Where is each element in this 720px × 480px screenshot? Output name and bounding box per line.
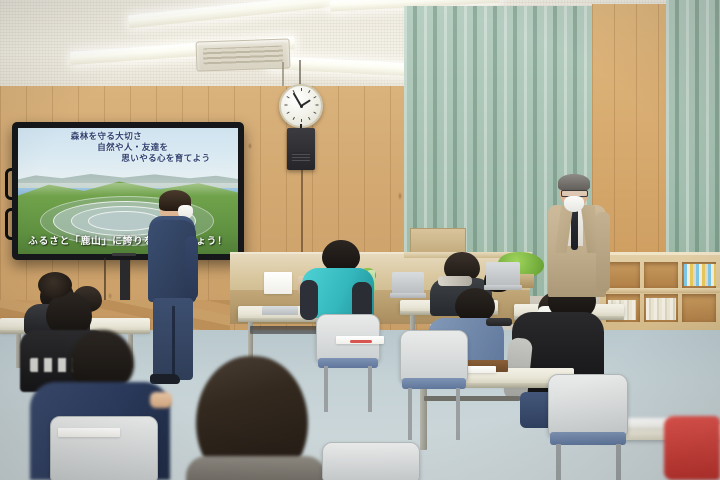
classroom-photo: 森林を守る大切さ 自然や人・友達を 思いやる心を育てよう ふるさと「鹿山」に誇り…	[0, 0, 720, 480]
chair-leg	[324, 366, 328, 412]
marker-pen[interactable]	[350, 340, 372, 343]
display-screen: 森林を守る大切さ 自然や人・友達を 思いやる心を育てよう ふるさと「鹿山」に誇り…	[18, 128, 238, 254]
laptop-computer[interactable]	[262, 306, 298, 315]
counter-paper-stack	[264, 272, 292, 294]
curtain-right	[666, 0, 720, 262]
shelved-books	[684, 264, 716, 286]
presenter-leg-seam	[172, 306, 175, 378]
classroom-chair-back	[400, 330, 468, 382]
slide-headline-line-2: 自然や人・友達を	[18, 142, 238, 153]
student-hand	[150, 392, 172, 408]
chair-leg	[368, 366, 372, 412]
chair-leg	[616, 444, 621, 480]
flat-panel-display[interactable]: 森林を守る大切さ 自然や人・友達を 思いやる心を育てよう ふるさと「鹿山」に誇り…	[12, 122, 244, 260]
student-arm	[300, 280, 318, 320]
classroom-chair-back	[50, 416, 158, 480]
laptop-computer[interactable]	[392, 272, 424, 294]
slide-ridge-haze	[18, 183, 238, 196]
laptop-computer[interactable]	[486, 262, 520, 286]
teacher-face-mask	[564, 196, 584, 212]
slide-footer-text: ふるさと「鹿山」に誇りを持ちましょう！	[18, 233, 238, 247]
slide-headline: 森林を守る大切さ 自然や人・友達を 思いやる心を育てよう	[18, 131, 238, 164]
desk-under-shelf	[250, 326, 326, 334]
clock-center	[300, 105, 303, 108]
red-bag	[664, 416, 720, 480]
bookshelf-cubby	[644, 262, 678, 288]
classroom-chair-back	[322, 442, 420, 480]
chair-leg	[556, 444, 561, 480]
laptop-keyboard[interactable]	[390, 293, 426, 298]
classroom-chair-seat	[550, 432, 626, 445]
display-brand-logo	[112, 253, 136, 256]
student-scarf	[438, 276, 472, 286]
slide-headline-line-3: 思いやる心を育てよう	[18, 153, 238, 164]
clock-wire	[299, 60, 301, 86]
presenter-arm	[185, 236, 198, 300]
wall-speaker	[287, 128, 315, 170]
slide-headline-line-1: 森林を守る大切さ	[18, 131, 238, 142]
laptop-keyboard[interactable]	[484, 285, 522, 290]
student-head	[455, 288, 495, 322]
chair-leg	[456, 388, 460, 440]
bookshelf-cubby	[606, 262, 640, 288]
desk-rail	[424, 396, 520, 401]
presenter-shoe	[150, 374, 180, 384]
wall-clock	[279, 84, 323, 128]
worksheet-on-desk	[58, 428, 120, 437]
pencil-case[interactable]	[486, 318, 512, 326]
teacher-arm	[596, 212, 610, 292]
classroom-chair-back	[548, 374, 628, 436]
ceiling-air-vent	[196, 38, 291, 71]
chair-leg	[408, 388, 412, 440]
student-shoulder	[186, 456, 326, 480]
student-hair-bun	[38, 272, 72, 298]
teacher-hair	[558, 174, 590, 191]
bookshelf-divider	[600, 288, 720, 293]
